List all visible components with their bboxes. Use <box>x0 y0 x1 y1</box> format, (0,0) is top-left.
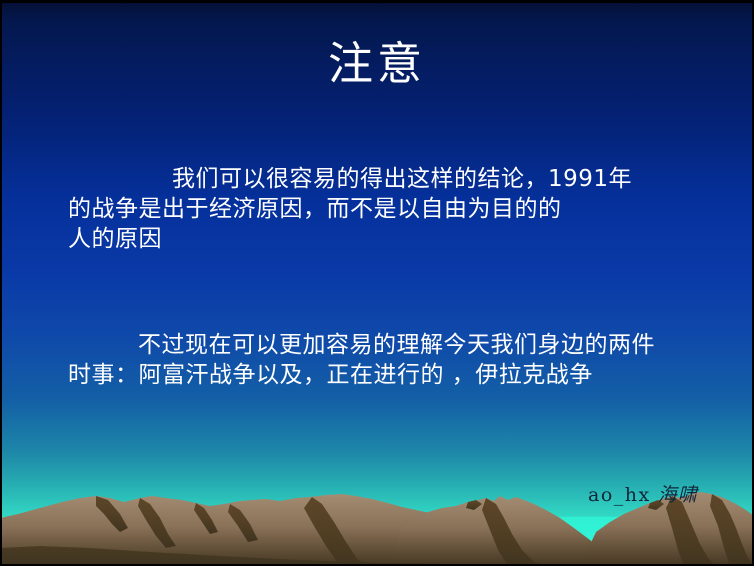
conclusion-line-3: 人的原因 <box>68 224 632 254</box>
signature-chinese: 海啸 <box>658 484 698 506</box>
current-events-line-1: 不过现在可以更加容易的理解今天我们身边的两件 <box>68 330 655 360</box>
current-events-paragraph: 不过现在可以更加容易的理解今天我们身边的两件 时事：阿富汗战争以及，正在进行的 … <box>68 330 655 390</box>
author-signature: ao_hx 海啸 <box>588 480 698 507</box>
signature-latin: ao_hx <box>588 484 651 506</box>
slide-border-top <box>0 0 754 3</box>
slide-border-left <box>0 0 2 566</box>
presentation-slide: 注意 我们可以很容易的得出这样的结论，1991年 的战争是出于经济原因，而不是以… <box>0 0 754 566</box>
conclusion-line-2: 的战争是出于经济原因，而不是以自由为目的的 <box>68 194 632 224</box>
current-events-line-2: 时事：阿富汗战争以及，正在进行的 ，伊拉克战争 <box>68 360 655 390</box>
conclusion-line-1: 我们可以很容易的得出这样的结论，1991年 <box>68 164 632 194</box>
conclusion-paragraph: 我们可以很容易的得出这样的结论，1991年 的战争是出于经济原因，而不是以自由为… <box>68 164 632 254</box>
slide-title: 注意 <box>0 36 754 92</box>
